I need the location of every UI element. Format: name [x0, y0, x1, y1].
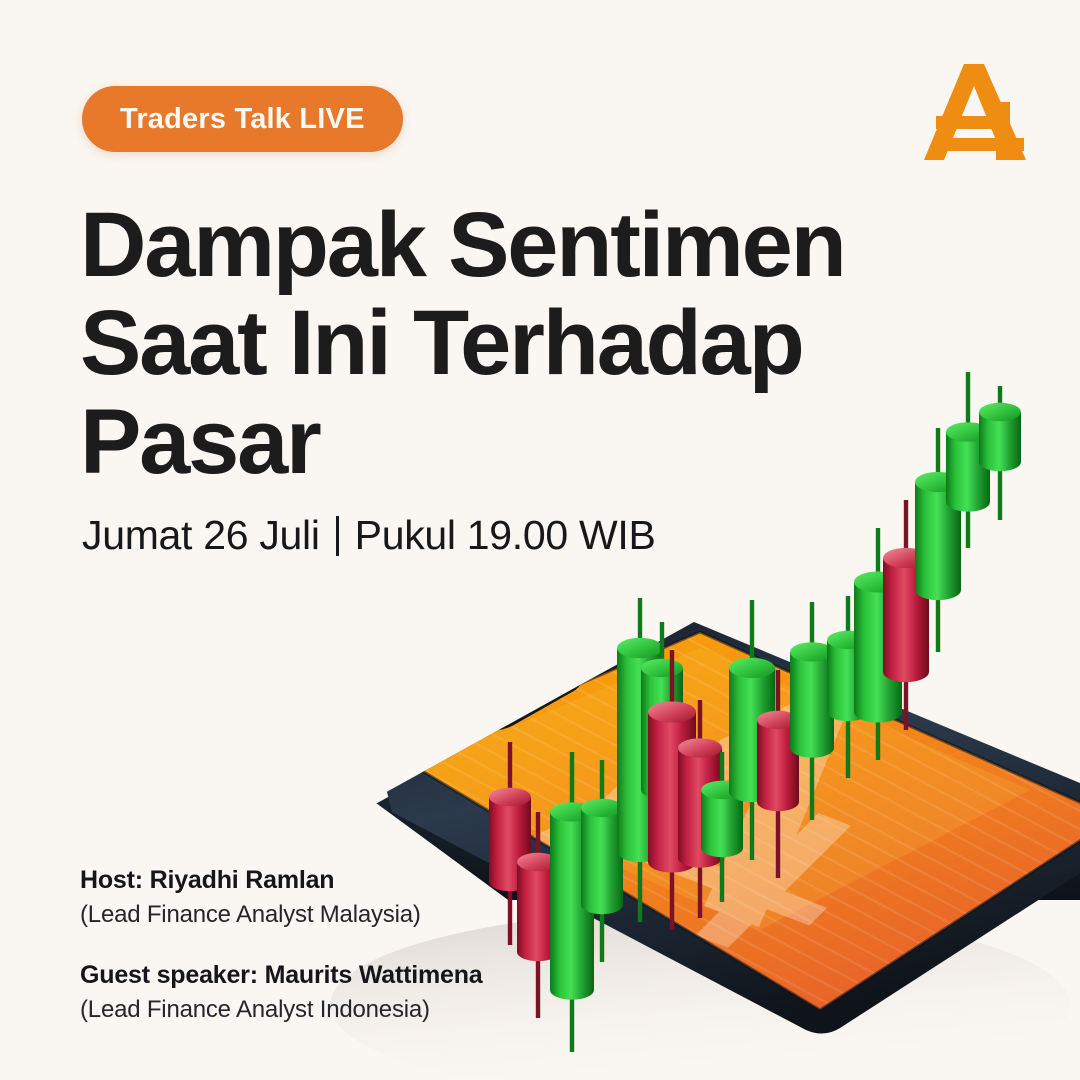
headline-line-3: Pasar — [80, 393, 820, 491]
speaker-credits: Host: Riyadhi Ramlan (Lead Finance Analy… — [80, 866, 483, 1024]
event-time: Pukul 19.00 WIB — [355, 512, 656, 559]
candlestick — [617, 598, 663, 922]
candlestick — [915, 428, 961, 652]
ascendex-a-logo-icon — [922, 58, 1032, 166]
page-title: Dampak Sentimen Saat Ini Terhadap Pasar — [80, 196, 820, 491]
screen-bezel-edge — [404, 632, 1080, 1010]
candle-top-cap — [883, 548, 929, 568]
live-badge-label: Traders Talk LIVE — [120, 103, 365, 136]
candle-top-cap — [854, 571, 902, 592]
candle-body — [729, 668, 775, 802]
candle-top-cap — [827, 631, 869, 649]
candle-body — [854, 582, 902, 723]
candle-body — [489, 797, 531, 891]
candlestick — [641, 622, 683, 848]
candle-top-cap — [550, 802, 594, 821]
candlestick — [827, 596, 869, 778]
candle-wick — [750, 600, 754, 860]
candle-wick — [904, 500, 908, 730]
candle-top-cap — [648, 701, 696, 722]
candle-wick — [670, 650, 674, 930]
candlestick — [946, 372, 990, 548]
candle-wick — [876, 528, 880, 760]
candle-wick — [536, 812, 540, 1018]
datetime-separator — [336, 516, 339, 556]
phone-body — [385, 604, 1080, 1034]
headline-line-2: Saat Ini Terhadap — [80, 294, 820, 392]
candle-body — [757, 720, 799, 811]
candle-top-cap — [701, 781, 743, 799]
candlestick — [648, 650, 696, 930]
candle-wick — [508, 742, 512, 945]
candle-top-cap — [641, 659, 683, 677]
candle-wick — [846, 596, 850, 778]
candlestick — [489, 742, 531, 945]
candle-wick — [638, 598, 642, 922]
phone-side — [372, 626, 1080, 900]
candle-wick — [936, 428, 940, 652]
candle-top-cap — [678, 738, 722, 757]
candle-top-cap — [790, 642, 834, 661]
candle-body — [617, 648, 663, 862]
candle-top-cap — [915, 472, 961, 492]
host-role: (Lead Finance Analyst Malaysia) — [80, 901, 483, 929]
candle-top-cap — [946, 422, 990, 441]
poster-canvas: Traders Talk LIVE Dampak Sentimen Saat I… — [0, 0, 1080, 1080]
screen-stripe-texture — [404, 632, 1080, 1010]
event-date: Jumat 26 Juli — [82, 512, 320, 559]
candle-body — [648, 712, 696, 873]
candle-wick — [810, 602, 814, 820]
candle-top-cap — [517, 853, 559, 871]
screen-glare — [404, 648, 1030, 930]
candle-body — [517, 862, 559, 961]
candle-body — [550, 812, 594, 1000]
candle-top-cap — [757, 711, 799, 729]
candle-top-cap — [617, 638, 663, 658]
candle-body — [883, 558, 929, 682]
candlestick — [790, 602, 834, 820]
event-datetime: Jumat 26 Juli Pukul 19.00 WIB — [82, 512, 656, 559]
candle-wick — [966, 372, 970, 548]
candle-wick — [660, 622, 664, 848]
candlestick — [517, 812, 559, 1018]
candlestick — [729, 600, 775, 860]
candle-top-cap — [979, 403, 1021, 421]
candle-wick — [720, 752, 724, 902]
candle-body — [581, 808, 623, 914]
candlestick — [678, 700, 722, 918]
candle-body — [678, 748, 722, 868]
host-name: Host: Riyadhi Ramlan — [80, 866, 483, 895]
candle-body — [979, 412, 1021, 471]
live-badge[interactable]: Traders Talk LIVE — [82, 86, 403, 152]
candlestick — [701, 752, 743, 902]
candle-body — [641, 668, 683, 799]
candle-body — [946, 432, 990, 512]
candlestick — [757, 670, 799, 878]
candle-wick — [998, 386, 1002, 520]
candle-body — [701, 790, 743, 857]
candle-wick — [698, 700, 702, 918]
candle-wick — [776, 670, 780, 878]
candlestick — [854, 528, 902, 760]
guest-credit: Guest speaker: Maurits Wattimena (Lead F… — [80, 961, 483, 1024]
candle-body — [915, 482, 961, 600]
candlestick — [581, 760, 623, 962]
host-credit: Host: Riyadhi Ramlan (Lead Finance Analy… — [80, 866, 483, 929]
phone-mute-switch — [398, 836, 418, 858]
guest-role: (Lead Finance Analyst Indonesia) — [80, 996, 483, 1024]
headline-line-1: Dampak Sentimen — [80, 196, 820, 294]
guest-name: Guest speaker: Maurits Wattimena — [80, 961, 483, 990]
candle-body — [827, 640, 869, 721]
candle-body — [790, 652, 834, 758]
candle-wick — [570, 752, 574, 1052]
candle-top-cap — [729, 658, 775, 678]
candle-top-cap — [581, 799, 623, 817]
candlestick — [550, 752, 594, 1052]
candle-wick — [600, 760, 604, 962]
candle-top-cap — [489, 788, 531, 806]
candlestick — [979, 386, 1021, 520]
candlestick — [883, 500, 929, 730]
phone-notch — [470, 659, 581, 730]
screen-watermark-a-logo — [506, 661, 974, 964]
phone-screen — [404, 632, 1080, 1010]
